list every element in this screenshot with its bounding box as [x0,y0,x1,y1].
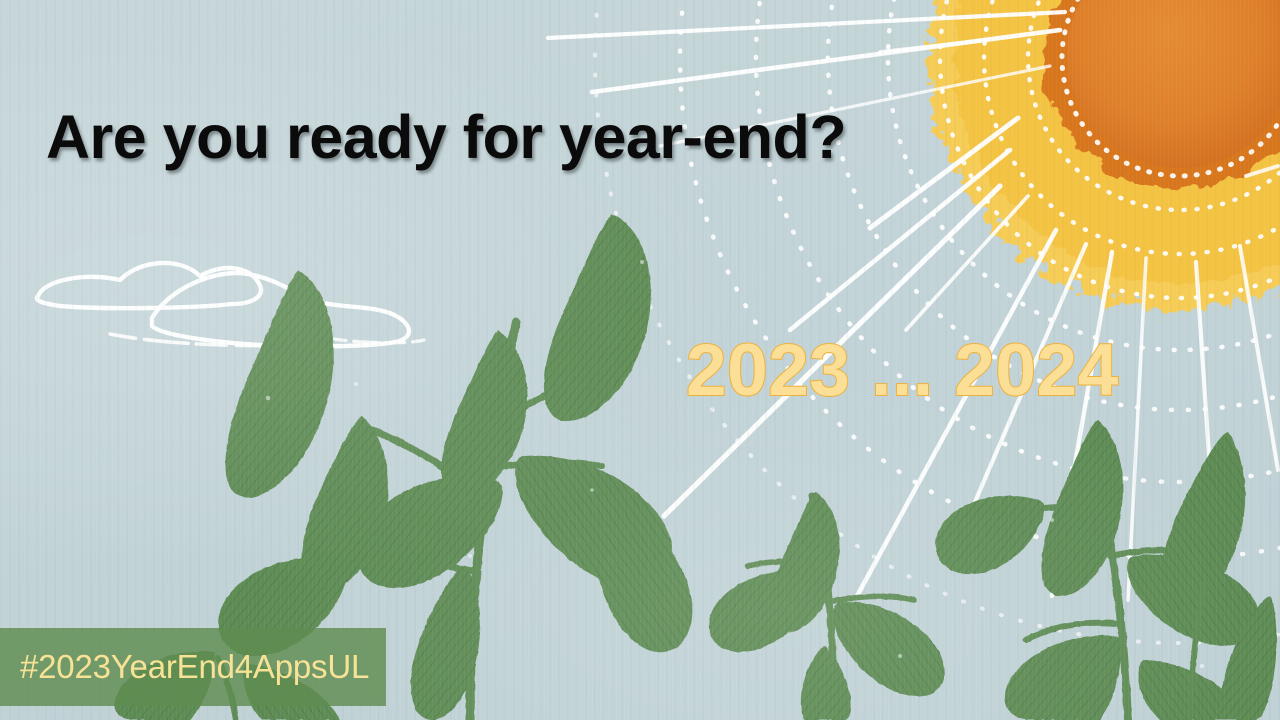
page-title: Are you ready for year-end? [46,102,846,172]
hashtag-banner: #2023YearEnd4AppsUL [0,628,386,706]
slide-canvas: Are you ready for year-end? 2023 ... 202… [0,0,1280,720]
hashtag-label: #2023YearEnd4AppsUL [20,648,369,686]
year-range-label: 2023 ... 2024 [686,329,1119,412]
